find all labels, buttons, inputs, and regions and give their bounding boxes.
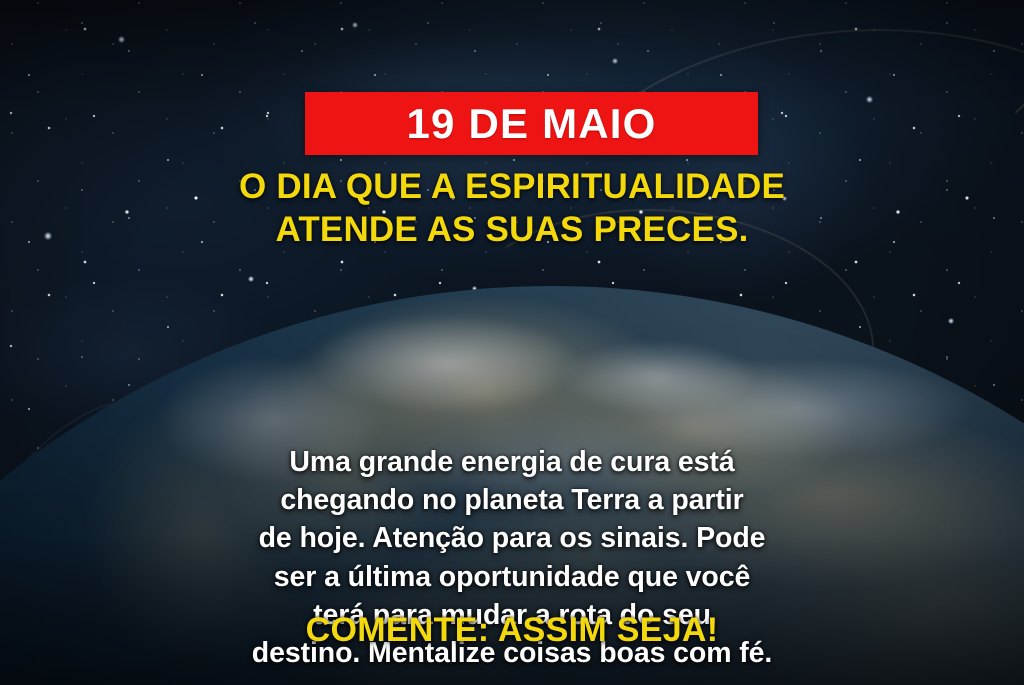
headline-line-2: ATENDE AS SUAS PRECES. (52, 209, 972, 252)
call-to-action: COMENTE: ASSIM SEJA! (0, 612, 1024, 649)
body-copy-line-1: Uma grande energia de cura está (58, 443, 966, 481)
call-to-action-label: COMENTE: ASSIM SEJA! (306, 611, 719, 649)
body-copy-line-3: de hoje. Atenção para os sinais. Pode (58, 519, 966, 557)
headline-line-1: O DIA QUE A ESPIRITUALIDADE (52, 166, 972, 209)
poster-canvas: 19 DE MAIO O DIA QUE A ESPIRITUALIDADE A… (0, 0, 1024, 685)
date-banner-label: 19 DE MAIO (406, 103, 656, 145)
poster-content: 19 DE MAIO O DIA QUE A ESPIRITUALIDADE A… (0, 0, 1024, 685)
date-banner: 19 DE MAIO (305, 92, 758, 155)
body-copy-line-4: ser a última oportunidade que você (58, 558, 966, 596)
body-copy-line-2: chegando no planeta Terra a partir (58, 481, 966, 519)
headline: O DIA QUE A ESPIRITUALIDADE ATENDE AS SU… (0, 166, 1024, 251)
